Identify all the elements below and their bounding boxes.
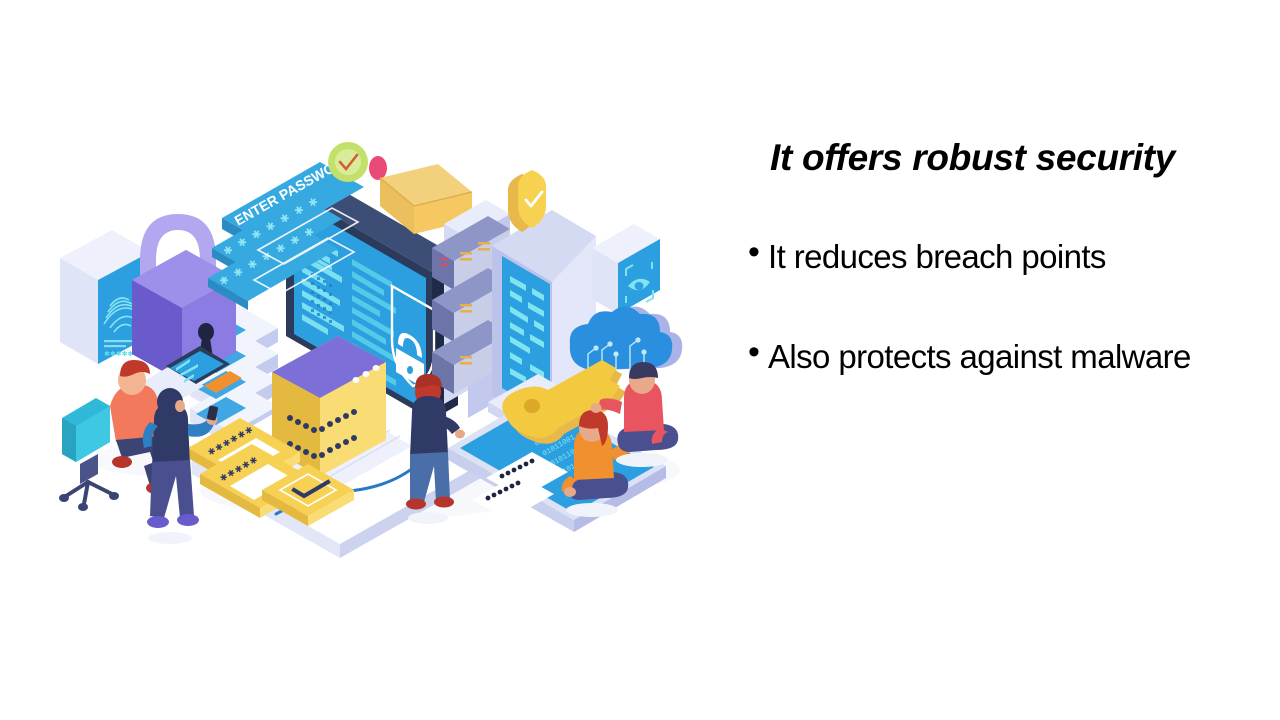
clock-check-badge-icon (328, 142, 368, 182)
slide-canvas: ✱✱✱✱✱✱ (0, 0, 1280, 720)
cybersecurity-illustration: ✱✱✱✱✱✱ (40, 130, 690, 560)
page-title: It offers robust security (770, 136, 1218, 180)
bullet-text: It reduces breach points (768, 232, 1106, 282)
list-item: • Also protects against malware (748, 332, 1218, 382)
bullet-text: Also protects against malware (768, 332, 1191, 382)
iris-scanner-panel (592, 224, 660, 314)
bullet-marker-icon: • (748, 332, 768, 372)
list-item: • It reduces breach points (748, 232, 1218, 282)
bullet-marker-icon: • (748, 232, 768, 272)
text-content-column: It offers robust security • It reduces b… (748, 136, 1218, 382)
